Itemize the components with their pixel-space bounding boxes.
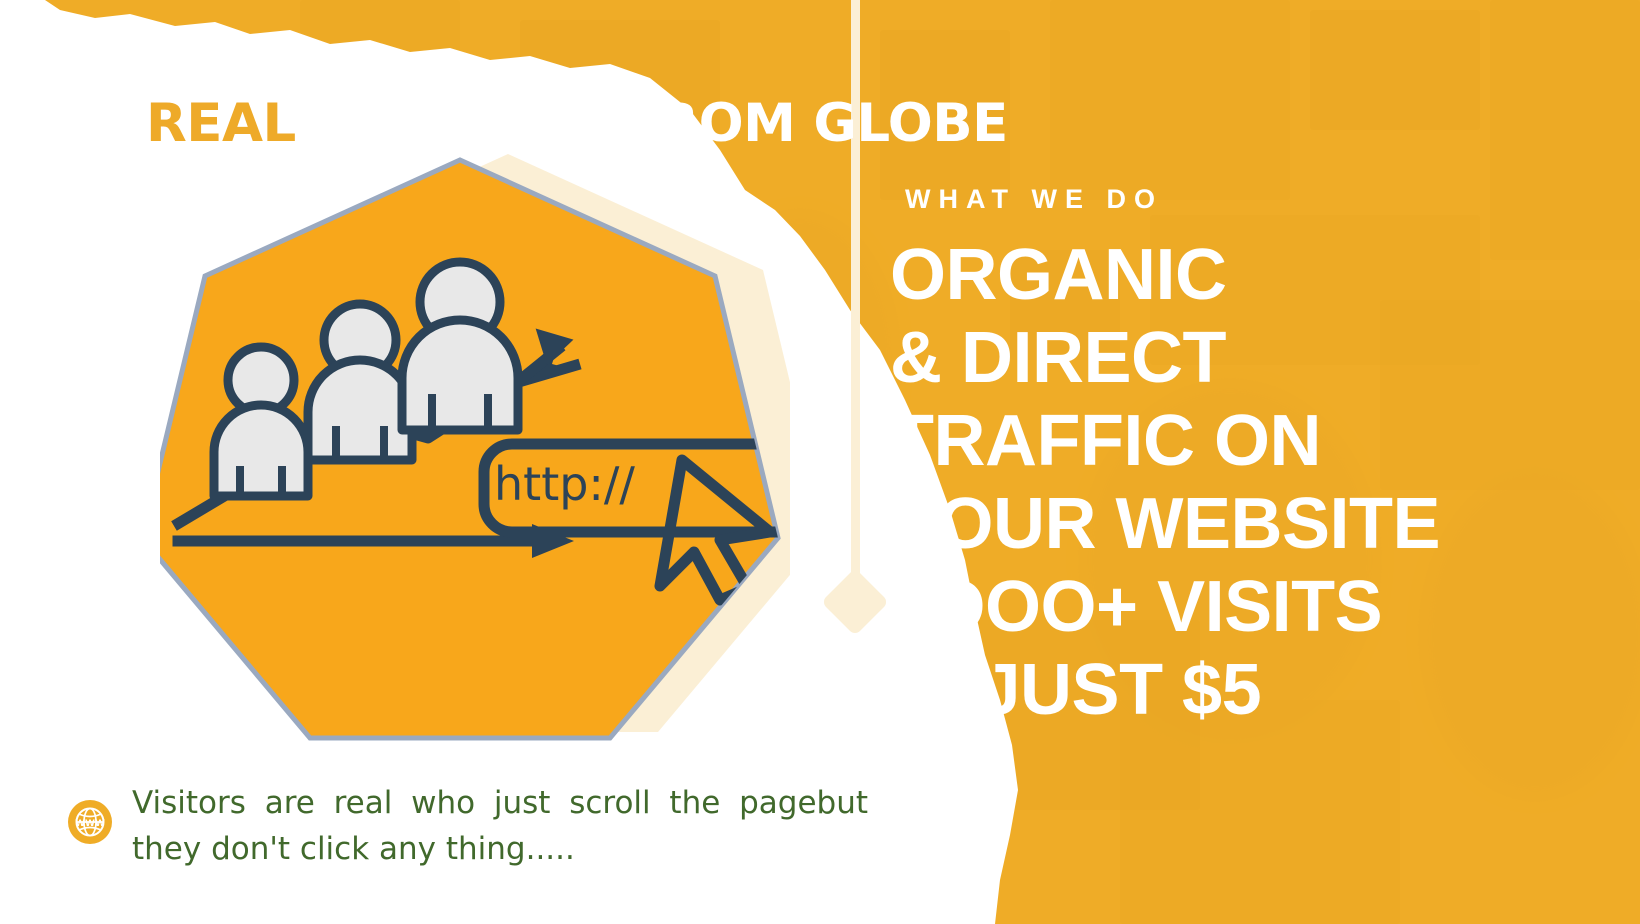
headline-line: TRAFFIC ON	[890, 400, 1620, 483]
promo-banner: REALVISITORS FROM GLOBE	[0, 0, 1640, 924]
headline-block: ORGANIC & DIRECT TRAFFIC ON YOUR WEBSITE…	[890, 234, 1620, 732]
globe-www-label: WWW	[75, 819, 105, 829]
headline-line: ORGANIC	[890, 234, 1620, 317]
caption-row: WWW Visitors are real who just scroll th…	[68, 780, 868, 872]
globe-www-icon: WWW	[68, 800, 112, 844]
headline-line: 5OOO+ VISITS	[890, 566, 1620, 649]
url-bar-text: http://	[494, 457, 635, 511]
title-plain-words: VISITORS FROM GLOBE	[330, 93, 1008, 154]
page-title: REALVISITORS FROM GLOBE	[146, 97, 1008, 150]
headline-line: IN JUST $5	[890, 649, 1620, 732]
caption-line-2: they don't click any thing.....	[132, 826, 868, 872]
caption-text: Visitors are real who just scroll the pa…	[132, 780, 868, 872]
heptagon-traffic-graphic: http://	[160, 148, 790, 748]
headline-line: & DIRECT	[890, 317, 1620, 400]
timeline-line	[851, 0, 860, 602]
headline-line: YOUR WEBSITE	[890, 483, 1620, 566]
eyebrow-label: WHAT WE DO	[905, 186, 1163, 213]
title-accent-word: REAL	[146, 93, 296, 154]
caption-line-1: Visitors are real who just scroll the pa…	[132, 780, 868, 826]
